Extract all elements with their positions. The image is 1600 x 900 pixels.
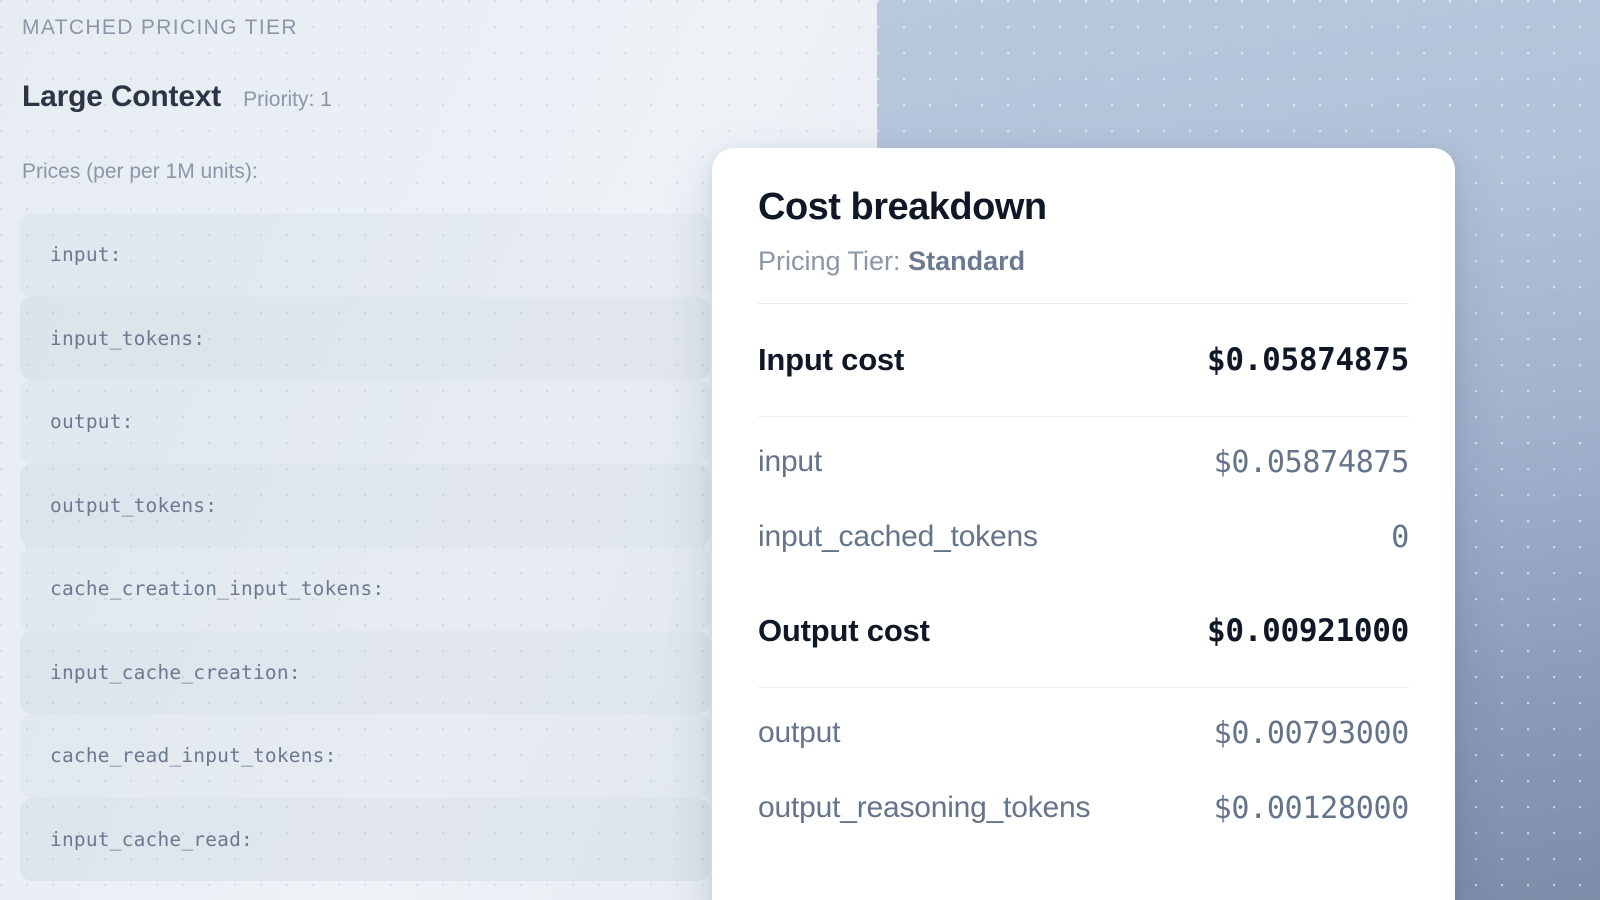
list-item[interactable]: cache_creation_input_tokens: <box>20 547 710 631</box>
cost-breakdown-card: Cost breakdown Pricing Tier: Standard In… <box>712 148 1455 900</box>
detail-label: output_reasoning_tokens <box>758 791 1090 825</box>
tier-name: Large Context <box>22 80 221 114</box>
output-cost-label: Output cost <box>758 613 930 649</box>
price-key-label: input: <box>50 243 122 266</box>
price-key-label: output: <box>50 410 134 433</box>
list-item[interactable]: input_cache_creation: <box>20 631 710 715</box>
pricing-tier-value: Standard <box>908 246 1025 276</box>
table-row: output_reasoning_tokens $0.00128000 <box>758 771 1409 846</box>
card-title: Cost breakdown <box>758 186 1409 230</box>
tier-heading-line: Large Context Priority: 1 <box>22 80 332 114</box>
input-cost-label: Input cost <box>758 342 904 378</box>
price-key-label: input_cache_creation: <box>50 661 301 684</box>
list-item[interactable]: input_cache_read: <box>20 798 710 882</box>
input-cost-total-row: Input cost $0.05874875 <box>758 304 1409 416</box>
output-group-divider <box>758 687 1409 688</box>
matched-pricing-tier-eyebrow: MATCHED PRICING TIER <box>22 16 298 40</box>
detail-value: $0.00128000 <box>1214 791 1409 826</box>
input-group-divider <box>758 416 1409 417</box>
output-cost-value: $0.00921000 <box>1207 613 1409 649</box>
detail-label: input_cached_tokens <box>758 520 1038 554</box>
price-key-label: cache_creation_input_tokens: <box>50 577 384 600</box>
price-key-label: input_tokens: <box>50 327 205 350</box>
detail-label: output <box>758 716 840 750</box>
list-item[interactable]: output: <box>20 380 710 464</box>
detail-value: $0.00793000 <box>1214 716 1409 751</box>
detail-value: $0.05874875 <box>1214 445 1409 480</box>
detail-value: 0 <box>1391 520 1409 555</box>
screen-root: MATCHED PRICING TIER Large Context Prior… <box>0 0 1600 900</box>
list-item[interactable]: input: <box>20 213 710 297</box>
prices-unit-label: Prices (per per 1M units): <box>22 160 258 184</box>
pricing-tier-label: Pricing Tier: <box>758 246 901 276</box>
list-item[interactable]: output_tokens: <box>20 464 710 548</box>
table-row: output $0.00793000 <box>758 696 1409 771</box>
table-row: input_cached_tokens 0 <box>758 500 1409 575</box>
list-item[interactable]: cache_read_input_tokens: <box>20 714 710 798</box>
price-key-label: input_cache_read: <box>50 828 253 851</box>
price-key-label: cache_read_input_tokens: <box>50 744 337 767</box>
price-key-list: input: input_tokens: output: output_toke… <box>20 213 710 881</box>
output-cost-group: Output cost $0.00921000 output $0.007930… <box>758 575 1409 846</box>
price-key-label: output_tokens: <box>50 494 217 517</box>
input-cost-value: $0.05874875 <box>1207 342 1409 378</box>
input-cost-group: Input cost $0.05874875 input $0.05874875… <box>758 304 1409 575</box>
list-item[interactable]: input_tokens: <box>20 297 710 381</box>
detail-label: input <box>758 445 822 479</box>
table-row: input $0.05874875 <box>758 425 1409 500</box>
output-cost-total-row: Output cost $0.00921000 <box>758 575 1409 687</box>
tier-priority: Priority: 1 <box>243 88 332 112</box>
pricing-tier-line: Pricing Tier: Standard <box>758 246 1409 277</box>
